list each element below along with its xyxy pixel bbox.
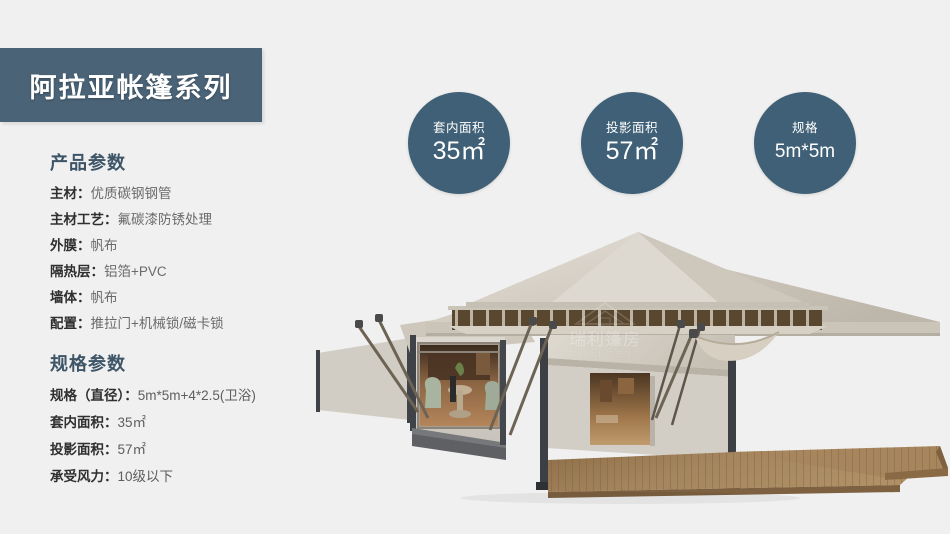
column-left bbox=[540, 338, 548, 486]
stat-label: 投影面积 bbox=[606, 120, 658, 136]
spec-label: 承受风力： bbox=[50, 469, 118, 484]
slide-canvas: 阿拉亚帐篷系列 产品参数 主材：优质碳钢钢管 主材工艺：氟碳漆防锈处理 外膜：帆… bbox=[0, 0, 950, 534]
stat-value: 35㎡ bbox=[433, 137, 486, 166]
spec-row: 主材：优质碳钢钢管 bbox=[50, 181, 350, 207]
spec-value: 5m*5m+4*2.5(卫浴) bbox=[138, 388, 256, 403]
product-params-heading: 产品参数 bbox=[50, 152, 350, 174]
spec-label: 隔热层： bbox=[50, 264, 104, 279]
stat-circle-projected-area: 投影面积 57㎡ bbox=[581, 92, 683, 194]
stat-circle-interior-area: 套内面积 35㎡ bbox=[408, 92, 510, 194]
spec-value: 35㎡ bbox=[118, 415, 147, 430]
spec-value: 帆布 bbox=[91, 238, 118, 253]
spec-value: 57㎡ bbox=[118, 442, 147, 457]
stat-label: 规格 bbox=[792, 120, 818, 136]
spec-value: 帆布 bbox=[91, 290, 118, 305]
spec-label: 主材工艺： bbox=[50, 212, 118, 227]
title-banner: 阿拉亚帐篷系列 bbox=[0, 48, 262, 122]
spec-value: 推拉门+机械锁/磁卡锁 bbox=[91, 316, 224, 331]
spec-value: 10级以下 bbox=[118, 469, 174, 484]
spec-value: 优质碳钢钢管 bbox=[91, 186, 172, 201]
tent-render-image bbox=[300, 230, 950, 534]
spec-label: 墙体： bbox=[50, 290, 91, 305]
spec-value: 氟碳漆防锈处理 bbox=[118, 212, 213, 227]
spec-label: 主材： bbox=[50, 186, 91, 201]
spec-value: 铝箔+PVC bbox=[104, 264, 167, 279]
page-title: 阿拉亚帐篷系列 bbox=[30, 66, 233, 105]
spec-label: 投影面积： bbox=[50, 442, 118, 457]
spec-label: 套内面积： bbox=[50, 415, 118, 430]
spec-label: 配置： bbox=[50, 316, 91, 331]
stat-value: 5m*5m bbox=[775, 137, 835, 166]
stat-value: 57㎡ bbox=[606, 137, 659, 166]
spec-label: 规格（直径）： bbox=[50, 388, 138, 403]
stat-label: 套内面积 bbox=[433, 120, 485, 136]
spec-label: 外膜： bbox=[50, 238, 91, 253]
stat-circle-dimensions: 规格 5m*5m bbox=[754, 92, 856, 194]
